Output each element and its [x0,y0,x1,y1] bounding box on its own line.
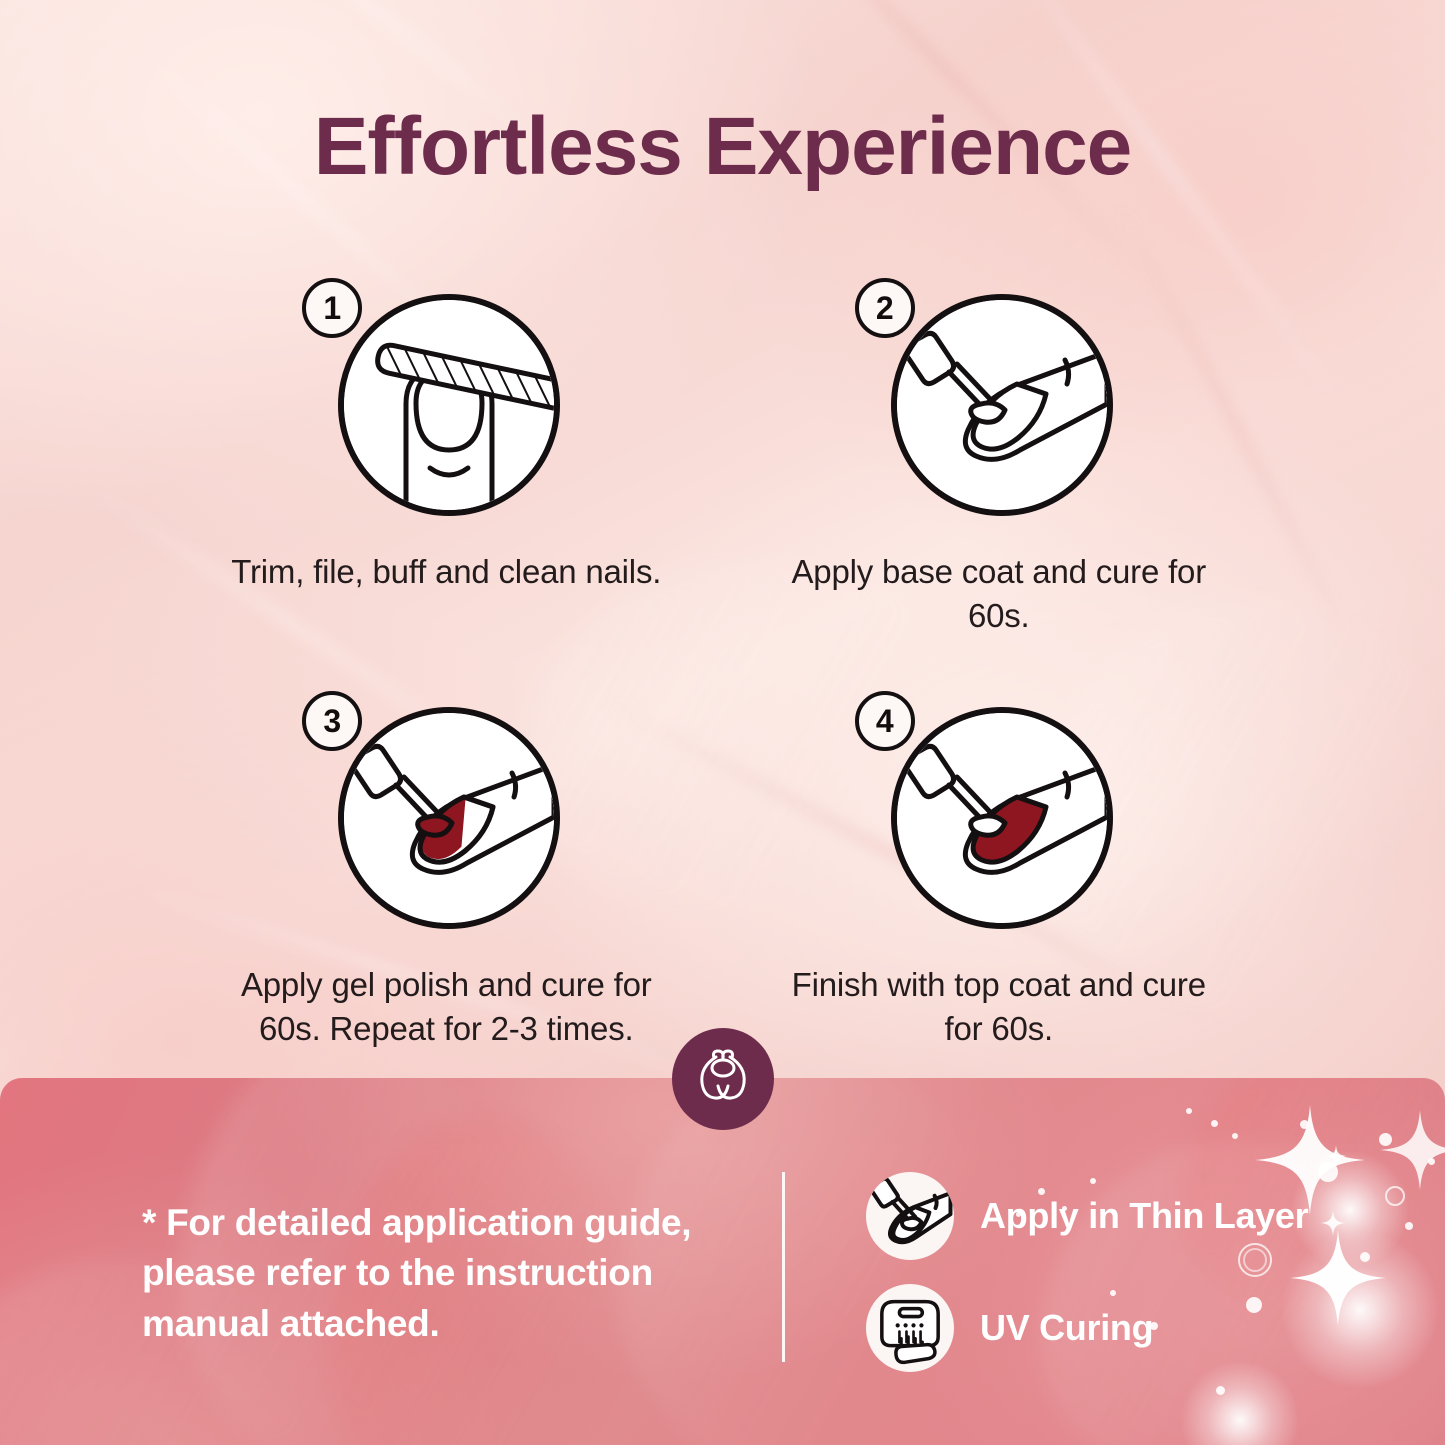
step-caption: Apply gel polish and cure for 60s. Repea… [226,963,666,1050]
step-caption: Finish with top coat and cure for 60s. [779,963,1219,1050]
feature-label: UV Curing [980,1307,1153,1349]
gel-polish-brush-icon [338,707,560,929]
top-coat-brush-icon [891,707,1113,929]
footer-divider [782,1172,785,1362]
step-item: 3 Apply gel polish and cure for 60s. Rep… [170,685,723,1050]
steps-grid: 1 Trim, file, buff and clean nails. [170,272,1275,1050]
feature-label: Apply in Thin Layer [980,1195,1308,1237]
footer-note: * For detailed application guide, please… [142,1198,742,1349]
feature-item: UV Curing [866,1284,1308,1372]
step-item: 1 Trim, file, buff and clean nails. [170,272,723,637]
base-coat-brush-icon [891,294,1113,516]
page-title: Effortless Experience [0,104,1445,190]
footer-features: Apply in Thin Layer [866,1172,1308,1372]
step-caption: Apply base coat and cure for 60s. [779,550,1219,637]
nail-file-icon [338,294,560,516]
step-artwork: 1 [296,272,596,534]
step-item: 2 Apply base coat and cure for 60s. [723,272,1276,637]
infographic-canvas: Effortless Experience [0,0,1445,1445]
step-number-badge: 1 [302,278,362,338]
brand-logo-badge [672,1028,774,1130]
step-number-badge: 2 [855,278,915,338]
step-artwork: 4 [849,685,1149,947]
step-artwork: 2 [849,272,1149,534]
step-artwork: 3 [296,685,596,947]
step-number-badge: 4 [855,691,915,751]
uv-lamp-icon [866,1284,954,1372]
step-number-badge: 3 [302,691,362,751]
step-caption: Trim, file, buff and clean nails. [226,550,666,594]
brand-loops-icon [692,1048,754,1111]
feature-item: Apply in Thin Layer [866,1172,1308,1260]
step-item: 4 Finish with top coat and cure for 60s. [723,685,1276,1050]
thin-layer-brush-icon [866,1172,954,1260]
